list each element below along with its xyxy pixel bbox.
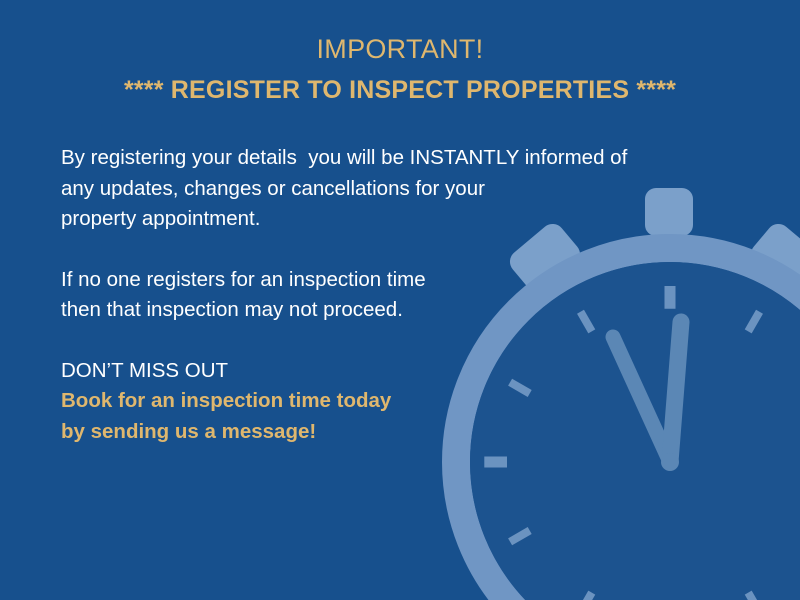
cta-book-inspection: Book for an inspection time today [61,386,721,417]
headline-register-to-inspect: **** REGISTER TO INSPECT PROPERTIES **** [0,72,800,108]
body-line: By registering your details you will be … [61,143,721,174]
body-line: then that inspection may not proceed. [61,295,721,326]
paragraph-registering: By registering your details you will be … [61,143,721,235]
paragraph-spacer [61,326,721,356]
headline-block: IMPORTANT! **** REGISTER TO INSPECT PROP… [0,32,800,108]
cta-send-message: by sending us a message! [61,417,721,448]
paragraph-no-registration: If no one registers for an inspection ti… [61,265,721,326]
promo-slide: IMPORTANT! **** REGISTER TO INSPECT PROP… [0,0,800,600]
text-layer: IMPORTANT! **** REGISTER TO INSPECT PROP… [0,0,800,600]
paragraph-spacer [61,235,721,265]
headline-important: IMPORTANT! [0,32,800,66]
body-line: any updates, changes or cancellations fo… [61,174,721,205]
body-copy-block: By registering your details you will be … [61,143,721,447]
body-line: If no one registers for an inspection ti… [61,265,721,296]
body-line: property appointment. [61,204,721,235]
cta-dont-miss-out: DON’T MISS OUT [61,356,721,387]
call-to-action-block: DON’T MISS OUT Book for an inspection ti… [61,356,721,448]
